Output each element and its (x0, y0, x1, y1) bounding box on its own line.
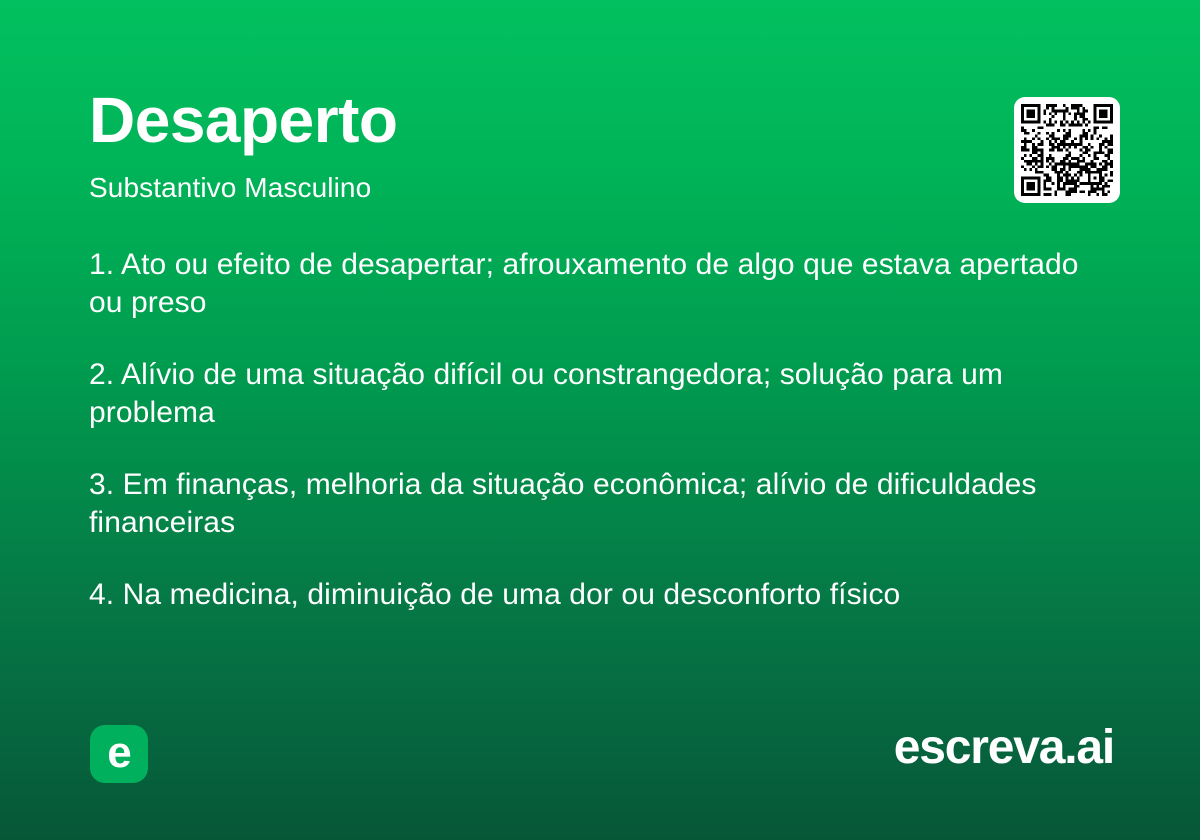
definition-item: 2. Alívio de uma situação difícil ou con… (89, 356, 1104, 432)
definition-list: 1. Ato ou efeito de desapertar; afrouxam… (89, 246, 1104, 614)
qr-code-icon (1021, 104, 1113, 196)
definition-item: 4. Na medicina, diminuição de uma dor ou… (89, 576, 1104, 614)
brand-wordmark: escreva.ai (894, 724, 1114, 772)
page-title: Desaperto (89, 88, 969, 152)
brand-logo-icon: e (90, 725, 148, 783)
dictionary-definition-card: Desaperto Substantivo Masculino 1. Ato o… (0, 0, 1200, 840)
definition-item: 3. Em finanças, melhoria da situação eco… (89, 466, 1104, 542)
part-of-speech-label: Substantivo Masculino (89, 174, 969, 202)
definition-item: 1. Ato ou efeito de desapertar; afrouxam… (89, 246, 1104, 322)
brand-logo-letter: e (107, 731, 130, 775)
qr-code-card[interactable] (1014, 97, 1120, 203)
card-header: Desaperto Substantivo Masculino (89, 88, 969, 202)
